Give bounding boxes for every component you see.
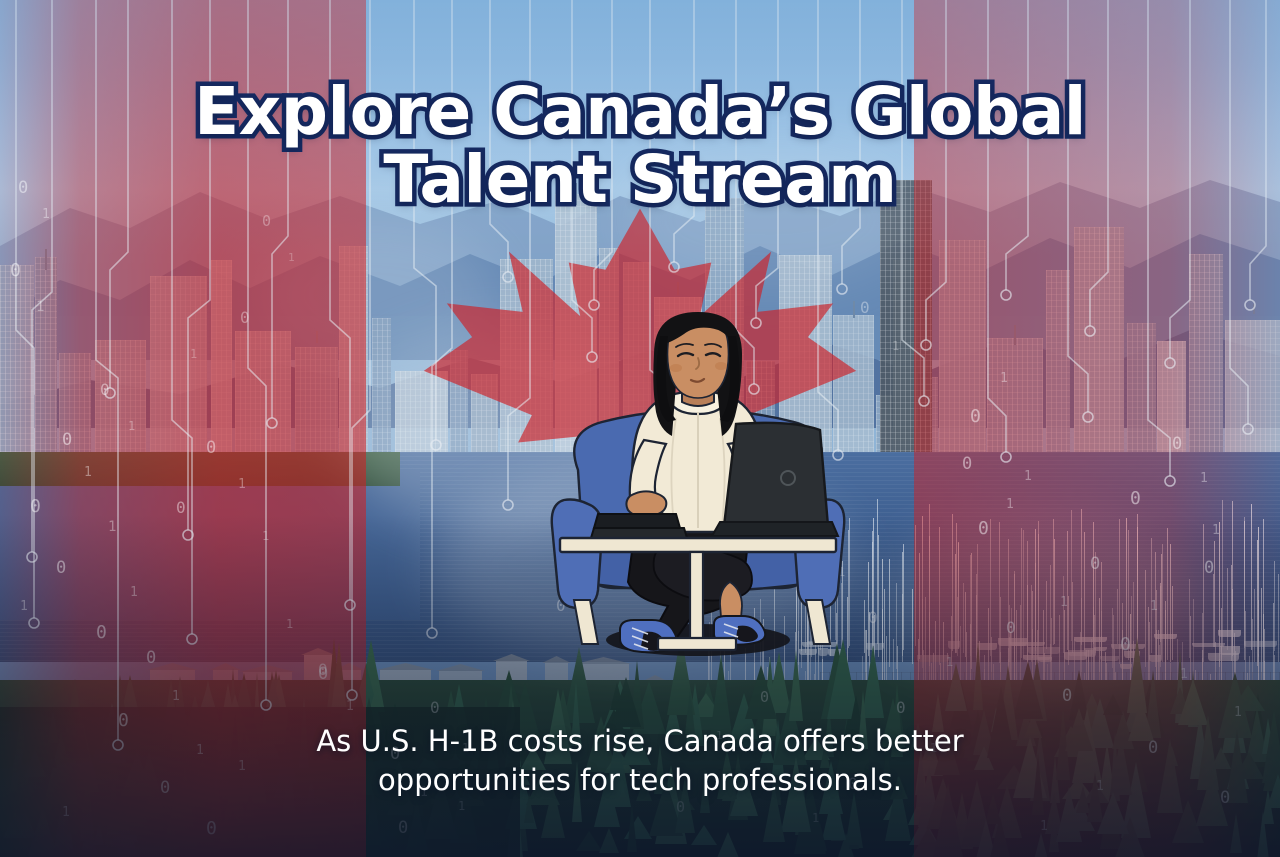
subtitle-line-1: As U.S. H-1B costs rise, Canada offers b…	[316, 724, 963, 758]
circuit-node	[1001, 452, 1011, 462]
circuit-node	[1001, 290, 1011, 300]
circuit-node	[267, 418, 277, 428]
illustration-woman-with-laptop	[548, 300, 848, 660]
circuit-node	[1085, 326, 1095, 336]
circuit-node	[921, 340, 931, 350]
circuit-node	[837, 284, 847, 294]
circuit-node	[1245, 300, 1255, 310]
circuit-node	[503, 500, 513, 510]
title-line-2: Talent Stream	[0, 146, 1280, 214]
title-line-1: Explore Canada’s Global	[0, 78, 1280, 146]
circuit-node	[1165, 476, 1175, 486]
circuit-node	[105, 388, 115, 398]
circuit-node	[1165, 358, 1175, 368]
poster-subtitle: As U.S. H-1B costs rise, Canada offers b…	[245, 722, 1035, 800]
circuit-node	[503, 272, 513, 282]
poster-root: 0101010101010101010101010101010101011010…	[0, 0, 1280, 857]
circuit-node	[1243, 424, 1253, 434]
circuit-node	[919, 396, 929, 406]
subtitle-line-2: opportunities for tech professionals.	[378, 763, 902, 797]
circuit-node	[669, 262, 679, 272]
circuit-node	[1083, 412, 1093, 422]
poster-title: Explore Canada’s Global Talent Stream	[0, 78, 1280, 214]
